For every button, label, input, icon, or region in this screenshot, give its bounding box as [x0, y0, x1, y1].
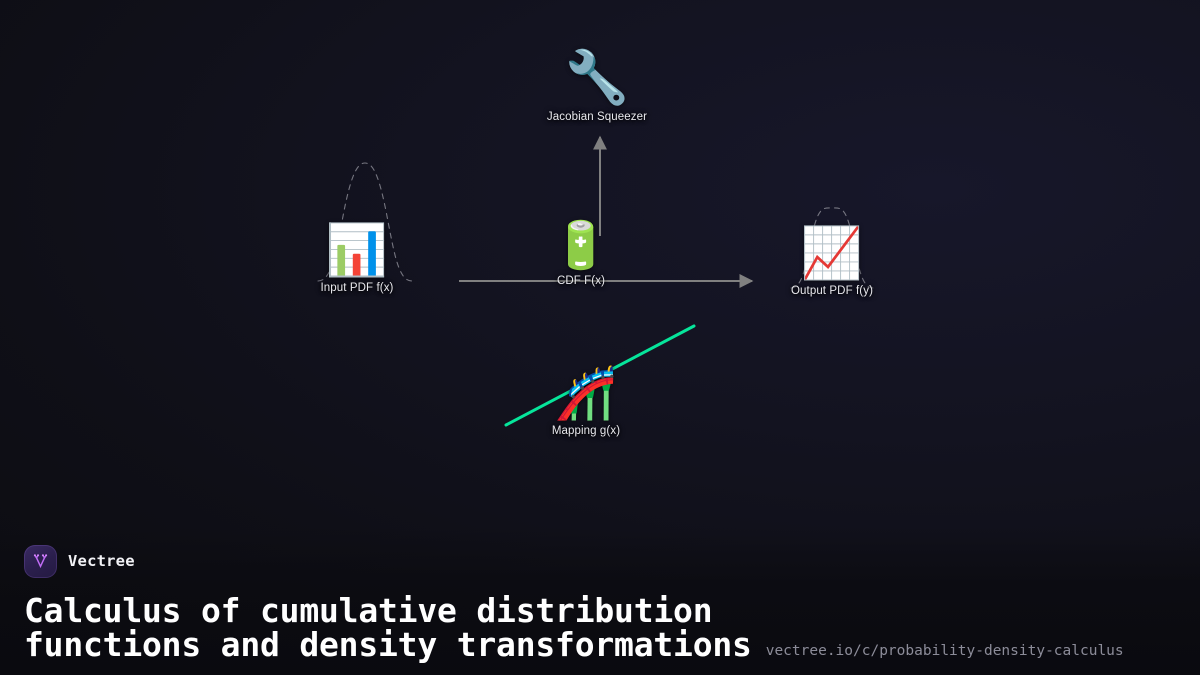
node-label-mapping: Mapping g(x)	[552, 425, 620, 437]
screenshot-root: 🔧 Jacobian Squeezer 📊 Input PDF f(x) 🔋 C…	[0, 0, 1200, 675]
caption-footer: Vectree Calculus of cumulative distribut…	[0, 527, 1200, 675]
node-jacobian-squeezer[interactable]: 🔧 Jacobian Squeezer	[527, 52, 667, 123]
node-label-input-pdf: Input PDF f(x)	[321, 282, 394, 294]
chart-increasing-icon: 📈	[801, 228, 863, 278]
node-label-cdf: CDF F(x)	[557, 275, 605, 287]
roller-coaster-icon: 🎢	[555, 368, 617, 418]
brand-name: Vectree	[68, 552, 135, 570]
vectree-logo	[24, 545, 57, 578]
node-output-pdf[interactable]: 📈 Output PDF f(y)	[762, 228, 902, 297]
brand-row: Vectree	[24, 545, 1176, 578]
vectree-branch-icon	[30, 551, 51, 572]
wrench-icon: 🔧	[565, 52, 630, 104]
headline-row: Calculus of cumulative distribution func…	[24, 594, 1176, 663]
node-cdf[interactable]: 🔋 CDF F(x)	[531, 222, 631, 287]
node-mapping[interactable]: 🎢 Mapping g(x)	[516, 368, 656, 437]
node-label-jacobian-squeezer: Jacobian Squeezer	[547, 111, 647, 123]
node-label-output-pdf: Output PDF f(y)	[791, 285, 873, 297]
page-title: Calculus of cumulative distribution func…	[24, 594, 752, 663]
battery-icon: 🔋	[552, 222, 609, 268]
node-input-pdf[interactable]: 📊 Input PDF f(x)	[287, 225, 427, 294]
bar-chart-icon: 📊	[326, 225, 388, 275]
site-url: vectree.io/c/probability-density-calculu…	[766, 643, 1124, 663]
